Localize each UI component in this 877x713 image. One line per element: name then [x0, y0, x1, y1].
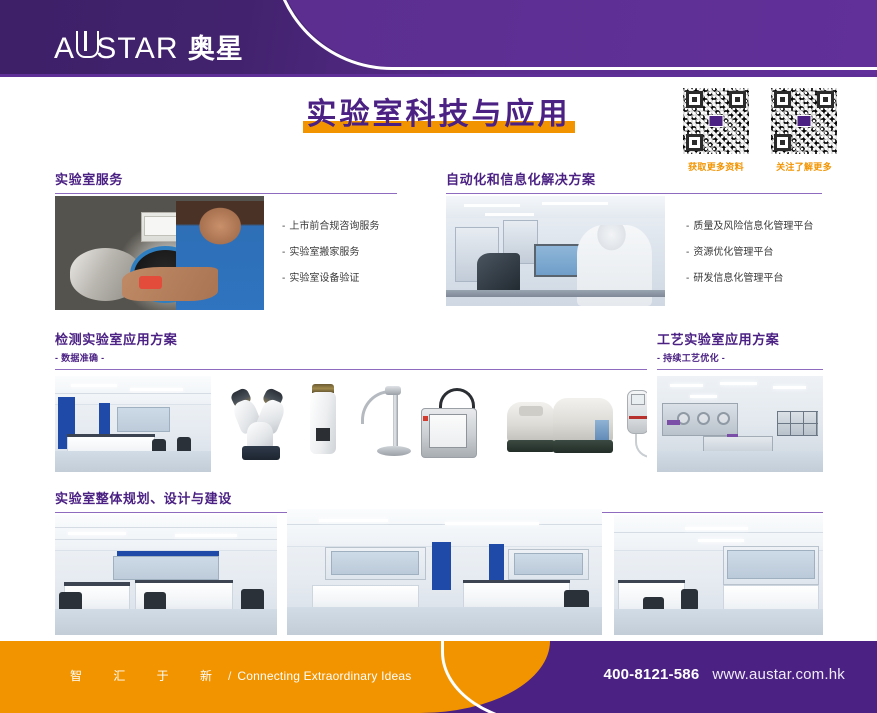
counter-touchscreen [429, 414, 467, 448]
stand-head [385, 386, 401, 395]
page-header: A STAR 奥星 [0, 0, 877, 74]
photo-planning-lab-2 [287, 509, 602, 635]
list-item: - 资源优化管理平台 [686, 248, 813, 258]
counter-status-led [423, 416, 428, 421]
qr-finder-bottom-left-icon-2 [774, 134, 791, 151]
austar-logo[interactable]: A STAR 奥星 [54, 28, 244, 64]
ceiling-light [319, 519, 388, 522]
section-rule-automation [446, 193, 822, 194]
blue-column [432, 542, 451, 590]
ceiling-light [175, 534, 237, 537]
section-rule-process-lab [657, 369, 823, 370]
rack-grid [777, 411, 819, 436]
bullet-text: 上市前合规咨询服务 [289, 222, 379, 232]
qr-finder-top-right-icon [729, 91, 746, 108]
stand-curved-arm [361, 390, 397, 424]
bullet-dash-icon: - [282, 274, 285, 284]
photo-process-cleanroom [657, 376, 823, 472]
photo-automation-lab [446, 196, 665, 306]
microscope-base [242, 446, 280, 460]
ceiling-tile-line [55, 393, 211, 394]
interior-window [117, 407, 170, 432]
footer-contact: 400-8121-586 www.austar.com.hk [604, 666, 845, 683]
section-heading-process-lab: 工艺实验室应用方案 - 持续工艺优化 - [657, 332, 823, 370]
data-logger-1-display [631, 394, 645, 405]
section-title-lab-services: 实验室服务 [55, 172, 397, 188]
slogan-english: Connecting Extraordinary Ideas [237, 669, 411, 683]
bullet-list-automation: - 质量及风险信息化管理平台 - 资源优化管理平台 - 研发信息化管理平台 [686, 222, 813, 300]
automation-ceiling [446, 196, 665, 218]
cleanroom-light [690, 395, 717, 398]
bullet-dash-icon: - [686, 222, 689, 232]
logo-chinese-name: 奥星 [188, 36, 244, 63]
bench-worktop [64, 582, 131, 586]
logo-letter-a: A [54, 34, 75, 64]
qr-image-1 [683, 88, 749, 154]
cleanroom-light [720, 382, 757, 385]
logo-wordmark: A STAR [54, 28, 179, 64]
bullet-text: 质量及风险信息化管理平台 [693, 222, 813, 232]
header-arc-line [272, 0, 877, 70]
qr-center-logo-icon-2 [797, 115, 812, 127]
ceiling-light [445, 522, 540, 525]
bullet-text: 实验室设备验证 [289, 274, 359, 284]
ceiling-tile-line [614, 532, 823, 533]
slogan-separator: / [228, 669, 231, 683]
bullet-dash-icon: - [282, 248, 285, 258]
instrument-data-loggers [627, 386, 647, 466]
bullet-dash-icon: - [686, 274, 689, 284]
section-title-planning: 实验室整体规划、设计与建设 [55, 491, 823, 507]
cleanroom-light [773, 386, 806, 389]
workbench-surface [446, 290, 665, 298]
bullet-dash-icon: - [282, 222, 285, 232]
ceiling-tile-line [55, 539, 277, 540]
qr-finder-top-left-icon [686, 91, 703, 108]
instrument-sampling-stand [355, 386, 411, 464]
photo-planning-lab-1 [55, 515, 277, 635]
bullet-list-lab-services: - 上市前合规咨询服务 - 实验室搬家服务 - 实验室设备验证 [282, 222, 379, 300]
instrument-particle-counter [417, 394, 487, 460]
lab-floor [55, 451, 211, 472]
spectrophotometer-accent-panel [595, 420, 609, 442]
qr-image-2 [771, 88, 837, 154]
photo-autoclave-operator [55, 196, 264, 310]
spectrophotometer-right-base [553, 440, 613, 453]
contact-website[interactable]: www.austar.com.hk [712, 666, 845, 683]
contact-phone[interactable]: 400-8121-586 [604, 666, 700, 683]
list-item: - 实验室搬家服务 [282, 248, 379, 258]
qr-center-logo-icon [709, 115, 724, 127]
lab-floor [614, 609, 823, 635]
section-heading-testing-lab: 检测实验室应用方案 - 数据准确 - [55, 332, 647, 370]
sample-hatch [519, 406, 543, 416]
instrument-strip [55, 376, 647, 472]
fume-hood-sash [514, 553, 583, 574]
section-title-testing-lab: 检测实验室应用方案 [55, 332, 647, 348]
blue-column [489, 544, 505, 582]
section-subtitle-process-lab: - 持续工艺优化 - [657, 351, 823, 364]
section-rule-testing-lab [55, 369, 647, 370]
qr-finder-top-right-icon-2 [817, 91, 834, 108]
ceiling-light [485, 213, 533, 216]
microscope [477, 253, 521, 290]
isolator-indicator [667, 420, 680, 425]
instrument-spectrophotometer [507, 398, 615, 458]
lab-floor [55, 609, 277, 635]
poster-page: A STAR 奥星 实验室科技与应用 获取更多资料 [0, 0, 877, 713]
fume-hood-sash [727, 550, 815, 579]
page-title: 实验室科技与应用 [299, 98, 579, 131]
ceiling-light [685, 527, 748, 530]
ceiling-light [71, 384, 118, 387]
instrument-vial-analyzer [308, 384, 338, 456]
list-item: - 上市前合规咨询服务 [282, 222, 379, 232]
ceiling-light [698, 539, 744, 542]
cleanroom-floor [657, 451, 823, 472]
qr-code-group: 获取更多资料 关注了解更多 [683, 88, 837, 173]
logo-u-glyph-icon [76, 28, 95, 58]
table-marker [727, 434, 739, 438]
ceiling-light [464, 204, 521, 207]
data-logger-brand-stripe [629, 416, 647, 419]
section-title-automation: 自动化和信息化解决方案 [446, 172, 822, 188]
footer-slogan: 智 汇 于 新 / Connecting Extraordinary Ideas [70, 667, 411, 684]
bullet-text: 实验室搬家服务 [289, 248, 359, 258]
bullet-dash-icon: - [686, 248, 689, 258]
bench-worktop [135, 580, 233, 584]
ceiling-light [130, 388, 183, 391]
section-rule-lab-services [55, 193, 397, 194]
operator-hand-tool [139, 276, 162, 290]
list-item: - 研发信息化管理平台 [686, 274, 813, 284]
logger-probe-cable [635, 434, 647, 458]
vial-display [316, 428, 330, 441]
section-heading-automation: 自动化和信息化解决方案 [446, 172, 822, 194]
logo-letters-star: STAR [96, 34, 179, 64]
photo-planning-lab-3 [614, 515, 823, 635]
ceiling-light [542, 202, 608, 205]
bullet-text: 研发信息化管理平台 [693, 274, 783, 284]
stand-base [377, 446, 411, 456]
ceiling-tile-line [55, 527, 277, 528]
reagent-shelf-glass [113, 556, 220, 580]
spectrophotometer-left-base [507, 440, 555, 452]
cleanroom-light [670, 384, 703, 387]
qr-finder-top-left-icon-2 [774, 91, 791, 108]
section-heading-lab-services: 实验室服务 [55, 172, 397, 194]
fume-hood-sash [331, 551, 419, 575]
ceiling-light [68, 532, 126, 535]
section-title-process-lab: 工艺实验室应用方案 [657, 332, 823, 348]
bench-worktop [67, 434, 154, 438]
bench-worktop [463, 580, 570, 584]
qr-finder-bottom-left-icon [686, 134, 703, 151]
section-subtitle-testing-lab: - 数据准确 - [55, 351, 647, 364]
header-divider [0, 74, 877, 77]
operator-arm [122, 267, 218, 301]
photo-testing-lab-room [55, 376, 211, 472]
lab-floor [287, 607, 602, 635]
workstation-monitor [534, 244, 582, 277]
qr-code-follow-us[interactable]: 关注了解更多 [771, 88, 837, 173]
vial-body [310, 392, 336, 454]
instrument-microscope [230, 388, 294, 462]
page-footer: 智 汇 于 新 / Connecting Extraordinary Ideas… [0, 641, 877, 713]
qr-code-get-more-info[interactable]: 获取更多资料 [683, 88, 749, 173]
bench-worktop [618, 580, 685, 584]
list-item: - 质量及风险信息化管理平台 [686, 222, 813, 232]
slogan-chinese: 智 汇 于 新 [70, 667, 226, 684]
bullet-text: 资源优化管理平台 [693, 248, 773, 258]
list-item: - 实验室设备验证 [282, 274, 379, 284]
